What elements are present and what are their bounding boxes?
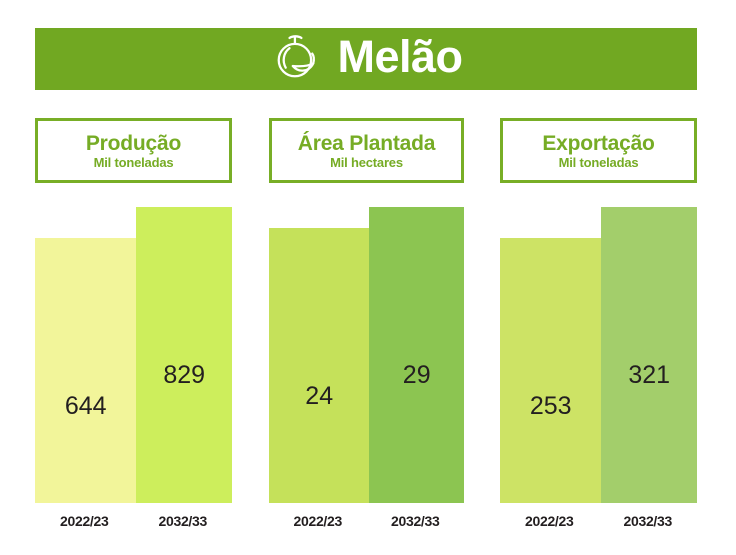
bar-value: 24 [305,384,333,409]
bar-exportacao-2022-23: 253 [500,238,601,503]
panel-area-plantada: Área Plantada Mil hectares [269,118,464,183]
x-label-2032-33: 2032/33 [367,508,465,534]
panel-subtitle: Mil toneladas [94,156,174,169]
bar-chart-producao: 644 829 [35,207,232,503]
header-banner: Melão [35,28,697,90]
x-axis-labels-exportacao: 2022/23 2032/33 [500,508,697,534]
bar-chart-area-plantada: 24 29 [269,207,464,503]
x-label-2022-23: 2022/23 [500,508,599,534]
x-label-2032-33: 2032/33 [599,508,698,534]
x-axis-labels-producao: 2022/23 2032/33 [35,508,232,534]
bar-producao-2022-23: 644 [35,238,136,503]
panel-exportacao: Exportação Mil toneladas [500,118,697,183]
title-box-exportacao: Exportação Mil toneladas [500,118,697,183]
x-label-2032-33: 2032/33 [134,508,233,534]
panel-producao: Produção Mil toneladas [35,118,232,183]
bar-chart-exportacao: 253 321 [500,207,697,503]
bar-value: 644 [65,394,107,419]
title-box-producao: Produção Mil toneladas [35,118,232,183]
bar-value: 253 [530,394,572,419]
bar-exportacao-2032-33: 321 [601,207,697,503]
panel-title: Produção [86,133,181,154]
bar-area-plantada-2032-33: 29 [369,207,464,503]
panel-subtitle: Mil hectares [330,156,403,169]
bar-producao-2032-33: 829 [136,207,232,503]
bar-area-plantada-2022-23: 24 [269,228,369,503]
x-label-2022-23: 2022/23 [269,508,367,534]
x-axis-labels-area-plantada: 2022/23 2032/33 [269,508,464,534]
panel-title: Exportação [542,133,654,154]
melon-icon [269,32,323,86]
bar-value: 29 [403,363,431,388]
panel-subtitle: Mil toneladas [559,156,639,169]
page-title: Melão [337,34,462,84]
title-box-area-plantada: Área Plantada Mil hectares [269,118,464,183]
bar-value: 829 [163,363,205,388]
bar-value: 321 [628,363,670,388]
panel-title: Área Plantada [298,133,435,154]
x-label-2022-23: 2022/23 [35,508,134,534]
